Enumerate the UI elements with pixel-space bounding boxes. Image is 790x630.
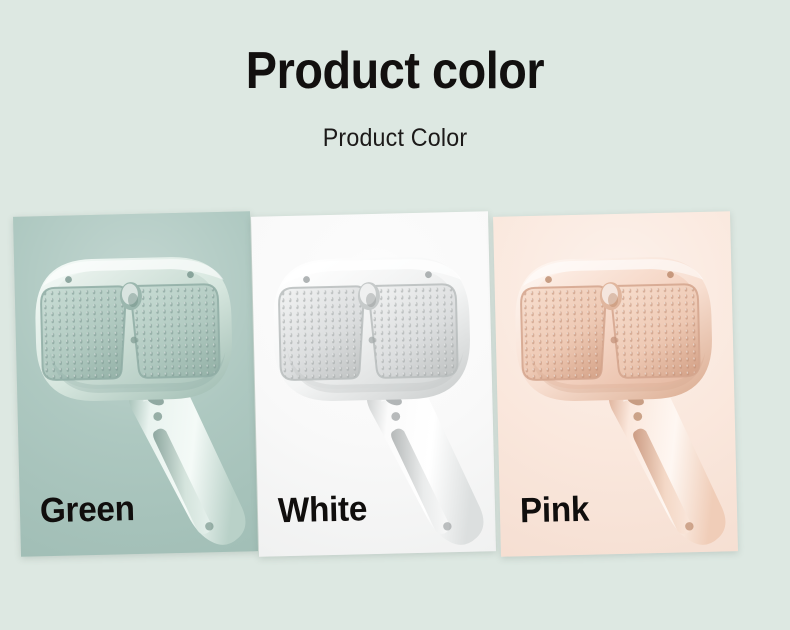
- color-swatch-white[interactable]: White: [251, 211, 496, 556]
- page-title: Product color: [40, 0, 751, 102]
- color-swatch-green[interactable]: Green: [13, 211, 258, 556]
- color-swatch-strip: Green: [0, 206, 790, 566]
- color-label-green: Green: [40, 490, 136, 530]
- color-swatch-pink[interactable]: Pink: [493, 211, 738, 556]
- page-subtitle: Product Color: [28, 102, 763, 153]
- header: Product color Product Color: [0, 0, 790, 153]
- color-label-white: White: [278, 490, 368, 530]
- color-label-pink: Pink: [520, 491, 590, 531]
- product-color-graphic: Product color Product Color: [0, 0, 790, 630]
